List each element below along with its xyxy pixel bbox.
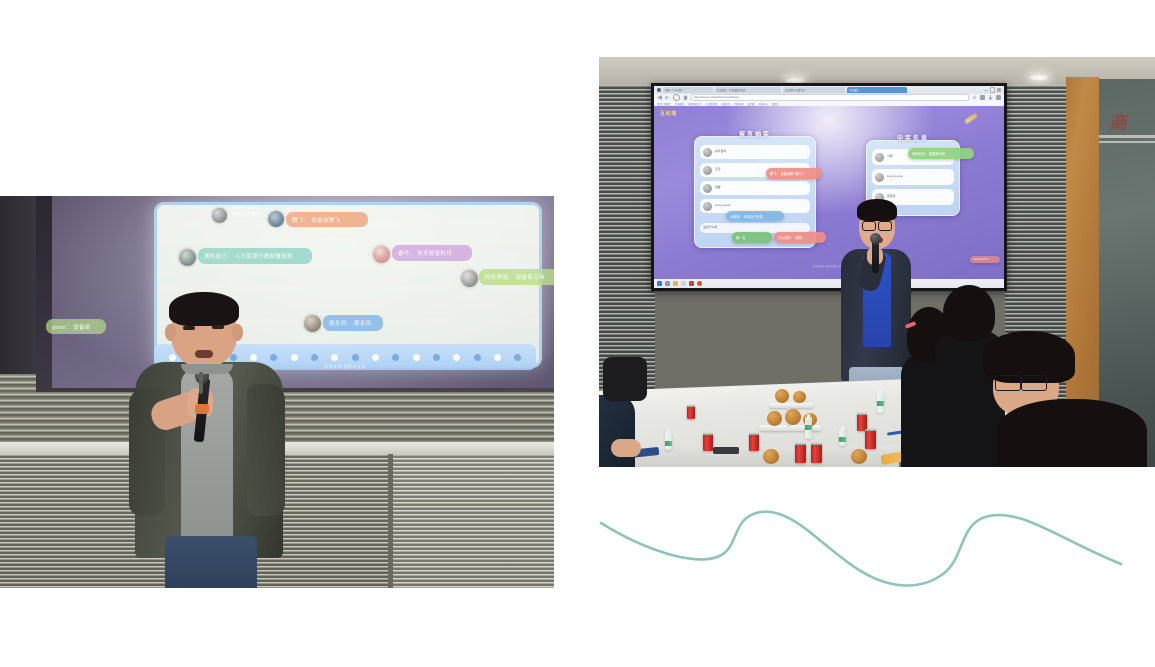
avatar	[875, 173, 884, 182]
mic-grip	[195, 404, 209, 414]
door-logo: 商	[1109, 109, 1127, 135]
chat-bubble: 时光倒流： 设备部习伟	[479, 269, 554, 285]
bookmark-item[interactable]: 内部系统门户	[688, 102, 702, 106]
rocket-icon	[964, 113, 979, 124]
bookmark-item[interactable]: 监控台	[772, 102, 779, 106]
list-item-name: 温馨	[715, 186, 721, 189]
chat-bubble: 腾飞： 设备部腾飞腾飞	[766, 168, 822, 179]
coke-can	[811, 443, 822, 463]
chat-bubble: gone： 设备部	[46, 319, 106, 334]
list-item-name: 小明	[887, 155, 893, 158]
chair	[603, 357, 647, 401]
projection-screen-left: Love is gone 设备部学年度 腾飞： 设备部腾飞 通知自己： 人力资源…	[36, 196, 554, 392]
folder-icon[interactable]	[665, 281, 670, 286]
photo-right: 安全出口 请勿堵塞 保持通畅 商 新建一个 标签页 企业微信 - 互动抽奖活动页…	[599, 57, 1155, 467]
hair	[169, 292, 239, 326]
dot	[494, 354, 501, 361]
dot	[392, 354, 399, 361]
avatar	[875, 153, 884, 162]
downlight-icon	[1029, 74, 1049, 81]
collage-canvas: Love is gone 设备部学年度 腾飞： 设备部腾飞 通知自己： 人力资源…	[0, 0, 1155, 667]
explorer-icon[interactable]	[673, 281, 678, 286]
water-bottle	[805, 417, 812, 439]
pastry	[763, 449, 779, 464]
list-item[interactable]: Love is gone	[872, 169, 954, 185]
screen-left-shadow	[0, 196, 38, 374]
extensions-icon[interactable]	[980, 95, 985, 100]
chat-bubble: 腾飞： 设备部腾飞	[286, 212, 368, 227]
glasses-icon	[862, 221, 876, 231]
hand	[611, 439, 641, 457]
bookmark-item[interactable]: 常用工具集合	[657, 102, 671, 106]
bookmark-item[interactable]: 文档中心	[759, 102, 768, 106]
forward-icon[interactable]	[665, 95, 670, 100]
avatar	[212, 208, 227, 223]
dot	[433, 354, 440, 361]
dot	[413, 354, 420, 361]
list-item[interactable]: 温馨	[700, 181, 810, 195]
chat-bubble: 通知自己： 人力资源行政部董晓帅	[198, 248, 312, 264]
avatar	[373, 246, 390, 263]
cabinet-block-right	[392, 454, 554, 588]
chat-bubble: 恭喜恭喜： 抽到新手机	[908, 148, 974, 159]
menu-icon[interactable]	[996, 95, 1001, 100]
hair	[857, 199, 897, 221]
list-item-name: Love is gone	[887, 175, 903, 178]
coke-can	[749, 433, 759, 451]
chat-bubble: 小明说： 恭喜自己开奖	[726, 211, 784, 221]
right-arm	[247, 384, 285, 516]
collar	[181, 364, 233, 374]
microphone-head	[870, 233, 881, 244]
browser-tab[interactable]: 会议签到 在线互动	[783, 87, 845, 93]
notes-icon[interactable]	[681, 281, 686, 286]
close-icon[interactable]	[997, 88, 1001, 92]
bookmark-item[interactable]: 代码仓库	[735, 102, 744, 106]
browser-window: 新建一个 标签页 企业微信 - 互动抽奖活动页 会议签到 在线互动 互动抽奖 h…	[654, 86, 1004, 288]
pastry	[793, 391, 806, 403]
bookmark-item[interactable]: 日报平台	[721, 102, 730, 106]
dot	[352, 354, 359, 361]
list-item-name: 王莹	[715, 168, 721, 171]
projected-name: Love is gone	[232, 205, 258, 210]
audience-member	[997, 399, 1147, 467]
glasses-icon	[1021, 375, 1047, 391]
browser-tabstrip: 新建一个 标签页 企业微信 - 互动抽奖活动页 会议签到 在线互动 互动抽奖	[654, 86, 1004, 94]
projection-screen-right: 新建一个 标签页 企业微信 - 互动抽奖活动页 会议签到 在线互动 互动抽奖 h…	[651, 83, 1007, 291]
star-icon[interactable]	[972, 95, 977, 100]
coke-can	[703, 433, 713, 451]
browser-tab[interactable]: 新建一个 标签页	[663, 87, 713, 93]
avatar	[703, 166, 712, 175]
avatar	[179, 249, 196, 266]
avatar	[703, 148, 712, 157]
pastry	[851, 449, 867, 464]
coke-can	[687, 405, 695, 419]
chat-bubble: 春吟： 技术部张秋月	[392, 245, 472, 261]
user-avatar-icon	[657, 88, 661, 92]
address-bar[interactable]: https://www.xxx.plus/activity/interact/l…	[691, 94, 969, 101]
dot	[291, 354, 298, 361]
pastry-stand-top	[769, 403, 813, 408]
coke-can	[795, 443, 806, 463]
eye-right	[212, 325, 224, 329]
panel-title: 中奖名单	[867, 133, 959, 142]
bookmark-item[interactable]: 企业微信	[675, 102, 684, 106]
message-input-placeholder: 说点什么吧	[703, 226, 717, 229]
page-content: 互动墙 留言抽奖 春吟自鸣 王莹	[654, 106, 1004, 279]
phone	[713, 447, 739, 454]
sage-wave-divider	[591, 492, 1131, 592]
chat-bubble: 周永凤： 周永凤	[323, 315, 383, 331]
dot	[372, 354, 379, 361]
door-frame-top	[1099, 135, 1155, 138]
browser-tab-active[interactable]: 互动抽奖	[847, 87, 907, 93]
chat-bubble: 开心就好： 8楼忙	[774, 232, 826, 243]
avatar	[703, 202, 712, 211]
water-bottle	[839, 429, 846, 446]
chat-bubble: 第一名	[732, 232, 772, 243]
ear-left	[165, 324, 176, 341]
home-icon[interactable]	[683, 95, 688, 100]
glasses-icon	[995, 375, 1021, 391]
avatar	[703, 184, 712, 193]
dot	[474, 354, 481, 361]
avatar	[304, 315, 321, 332]
avatar	[268, 211, 284, 227]
mouth	[195, 350, 213, 358]
bookmark-item[interactable]: 产品需求池	[706, 102, 718, 106]
back-icon[interactable]	[657, 95, 662, 100]
page-footer-text: 技术支持 技术支持工作室	[654, 264, 1004, 268]
water-bottle	[877, 393, 884, 413]
lanyard	[199, 372, 203, 394]
browser-icon[interactable]	[697, 281, 702, 286]
browser-tab[interactable]: 企业微信 - 互动抽奖活动页	[715, 87, 781, 93]
ear-right	[232, 324, 243, 341]
downloads-icon[interactable]	[988, 95, 993, 100]
left-speaker	[129, 292, 289, 588]
pdf-icon[interactable]	[689, 281, 694, 286]
minimize-icon[interactable]	[984, 90, 988, 91]
microphone	[872, 239, 879, 273]
site-logo[interactable]: 互动墙	[660, 110, 677, 117]
list-item[interactable]: 春吟自鸣	[700, 145, 810, 159]
dot	[311, 354, 318, 361]
dot	[514, 354, 521, 361]
dot	[331, 354, 338, 361]
glasses-icon	[878, 221, 892, 231]
browser-toolbar: https://www.xxx.plus/activity/interact/l…	[654, 94, 1004, 101]
panel-title: 留言抽奖	[695, 129, 815, 138]
list-item-name: 春吟自鸣	[715, 150, 726, 153]
jeans	[165, 536, 257, 588]
photo-left: Love is gone 设备部学年度 腾飞： 设备部腾飞 通知自己： 人力资源…	[0, 196, 554, 588]
pastry	[767, 411, 782, 426]
list-item-name: Love is gone	[715, 204, 731, 207]
audience-member	[599, 395, 635, 467]
pastry	[785, 409, 801, 425]
watermark: Lucent 1.6.1	[970, 256, 1000, 263]
hair	[997, 399, 1147, 467]
projected-name: 设备部学年度	[232, 212, 260, 218]
cabinet-divider	[388, 454, 393, 588]
windows-start-icon[interactable]	[657, 281, 662, 286]
bookmark-item[interactable]: 设计稿	[748, 102, 755, 106]
water-bottle	[665, 433, 672, 450]
dot	[453, 354, 460, 361]
reload-icon[interactable]	[673, 94, 680, 101]
eye-left	[183, 326, 195, 330]
door-frame-mid	[1099, 141, 1155, 143]
coke-can	[865, 429, 876, 449]
pastry	[775, 389, 789, 403]
maximize-icon[interactable]	[990, 87, 996, 93]
avatar	[461, 270, 478, 287]
